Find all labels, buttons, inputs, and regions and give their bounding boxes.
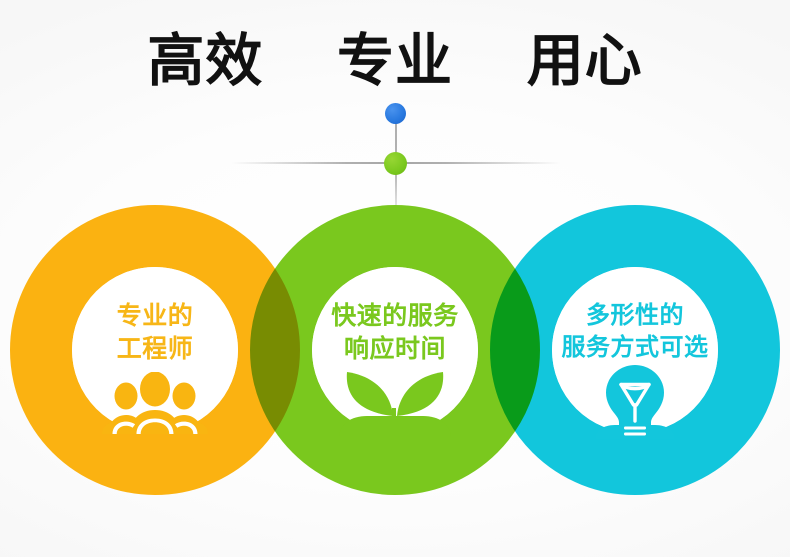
card-engineers-line2: 工程师	[40, 333, 270, 366]
card-response-time-line1: 快速的服务	[280, 300, 510, 333]
card-service-options-line2: 服务方式可选	[520, 332, 750, 364]
card-engineers-line1: 专业的	[40, 300, 270, 333]
card-service-options-line1: 多形性的	[520, 300, 750, 332]
card-response-time-line2: 响应时间	[280, 333, 510, 366]
people-group-icon	[102, 372, 208, 434]
card-service-options[interactable]: 多形性的 服务方式可选	[520, 300, 750, 439]
sprout-icon	[339, 368, 451, 438]
card-response-time[interactable]: 快速的服务 响应时间	[280, 300, 510, 438]
lightbulb-icon	[595, 363, 675, 439]
card-engineers[interactable]: 专业的 工程师	[40, 300, 270, 434]
infographic-canvas: 高效 专业 用心 专业的 工程师	[0, 0, 790, 557]
